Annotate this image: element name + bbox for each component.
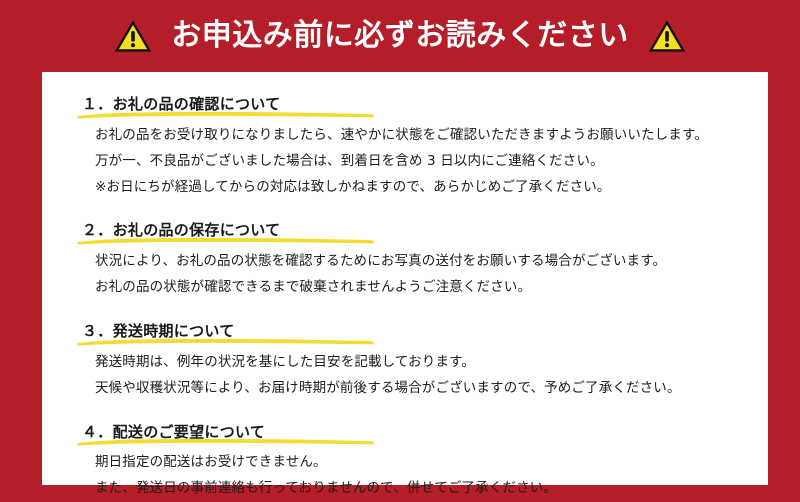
section-heading: ３．発送時期について — [82, 322, 241, 344]
notice-line: ※お日にちが経過してからの対応は致しかねますので、あらかじめご了承ください。 — [82, 175, 740, 201]
section-heading-text: ２．お礼の品の保存について — [82, 221, 280, 239]
notice-section: ４．配送のご要望について 期日指定の配送はお受けできません。 また、発送日の事前… — [82, 422, 740, 502]
banner-header: お申込み前に必ずお読みください — [0, 0, 800, 72]
notice-line: 状況により、お礼の品の状態を確認するためにお写真の送付をお願いする場合がございま… — [82, 249, 740, 275]
notice-line: また、発送日の事前連絡も行っておりませんので、併せてご了承ください。 — [82, 476, 740, 502]
section-heading: ２．お礼の品の保存について — [82, 221, 286, 243]
banner-title: お申込み前に必ずお読みください — [171, 21, 629, 51]
notice-line: 期日指定の配送はお受けできません。 — [82, 450, 740, 476]
section-heading-text: １．お礼の品の確認について — [82, 95, 280, 113]
notice-line: 万が一、不良品がございました場合は、到着日を含め 3 日以内にご連絡ください。 — [82, 149, 740, 175]
notice-section: ２．お礼の品の保存について 状況により、お礼の品の状態を確認するためにお写真の送… — [82, 220, 740, 301]
notice-line: お礼の品の状態が確認できるまで破棄されませんようご注意ください。 — [82, 275, 740, 301]
notice-line: 発送時期は、例年の状況を基にした目安を記載しております。 — [82, 350, 740, 376]
notice-line: 天候や収穫状況等により、お届け時期が前後する場合がございますので、予めご了承くだ… — [82, 376, 740, 402]
notice-section: １．お礼の品の確認について お礼の品をお受け取りになりましたら、速やかに状態をご… — [82, 94, 740, 200]
warning-triangle-icon — [647, 18, 687, 54]
notice-panel: １．お礼の品の確認について お礼の品をお受け取りになりましたら、速やかに状態をご… — [42, 72, 768, 485]
notice-container: お申込み前に必ずお読みください １．お礼の品の確認について お礼の品をお受け取り… — [0, 0, 800, 497]
section-heading: ４．配送のご要望について — [82, 423, 271, 445]
section-heading-text: ３．発送時期について — [82, 322, 235, 340]
section-heading: １．お礼の品の確認について — [82, 95, 286, 117]
notice-section: ３．発送時期について 発送時期は、例年の状況を基にした目安を記載しております。 … — [82, 321, 740, 402]
section-heading-text: ４．配送のご要望について — [82, 423, 265, 441]
warning-triangle-icon — [113, 18, 153, 54]
notice-line: お礼の品をお受け取りになりましたら、速やかに状態をご確認いただきますようお願いい… — [82, 123, 740, 149]
